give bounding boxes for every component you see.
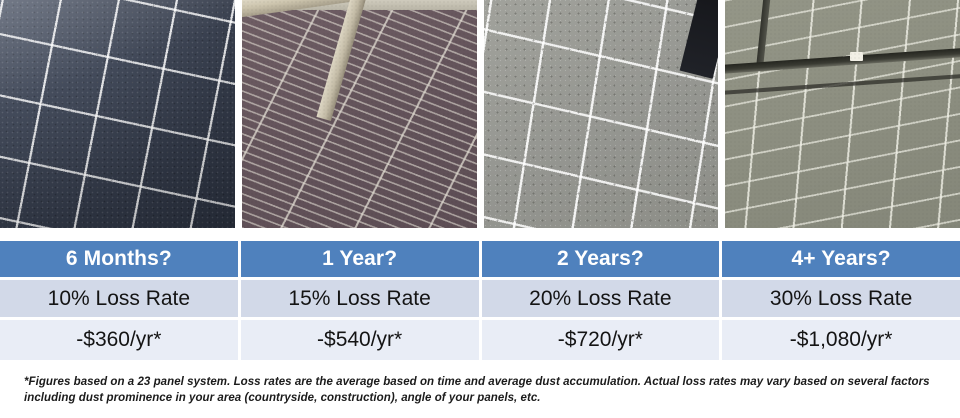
loss-rate-cell: 20% Loss Rate <box>482 280 720 317</box>
table-header-cell: 4+ Years? <box>722 241 960 277</box>
photo-clean-dark-solar-panel-closeup <box>0 0 235 228</box>
photo-dust-covered-gray-solar-panel <box>484 0 719 228</box>
table-header-cell: 6 Months? <box>0 241 238 277</box>
annual-cost-cell: -$360/yr* <box>0 320 238 360</box>
dust-texture <box>242 0 477 228</box>
table-row: -$360/yr* -$540/yr* -$720/yr* -$1,080/yr… <box>0 320 960 360</box>
loss-rate-cell: 10% Loss Rate <box>0 280 238 317</box>
photo-heavily-soiled-solar-panel-array <box>725 0 960 228</box>
loss-rate-cell: 30% Loss Rate <box>722 280 960 317</box>
panel-glare <box>0 0 235 228</box>
table-header-row: 6 Months? 1 Year? 2 Years? 4+ Years? <box>0 241 960 277</box>
loss-rate-cell: 15% Loss Rate <box>241 280 479 317</box>
dust-texture <box>484 0 719 228</box>
table-header-cell: 1 Year? <box>241 241 479 277</box>
dust-loss-comparison-table: 6 Months? 1 Year? 2 Years? 4+ Years? 10%… <box>0 241 960 363</box>
annual-cost-cell: -$540/yr* <box>241 320 479 360</box>
annual-cost-cell: -$720/yr* <box>482 320 720 360</box>
solar-panel-photo-strip <box>0 0 960 228</box>
table-row: 10% Loss Rate 15% Loss Rate 20% Loss Rat… <box>0 280 960 317</box>
table-header-cell: 2 Years? <box>482 241 720 277</box>
annual-cost-cell: -$1,080/yr* <box>722 320 960 360</box>
photo-dusty-mauve-solar-array <box>242 0 477 228</box>
dust-texture <box>725 0 960 228</box>
footnote-disclaimer: *Figures based on a 23 panel system. Los… <box>24 374 940 407</box>
